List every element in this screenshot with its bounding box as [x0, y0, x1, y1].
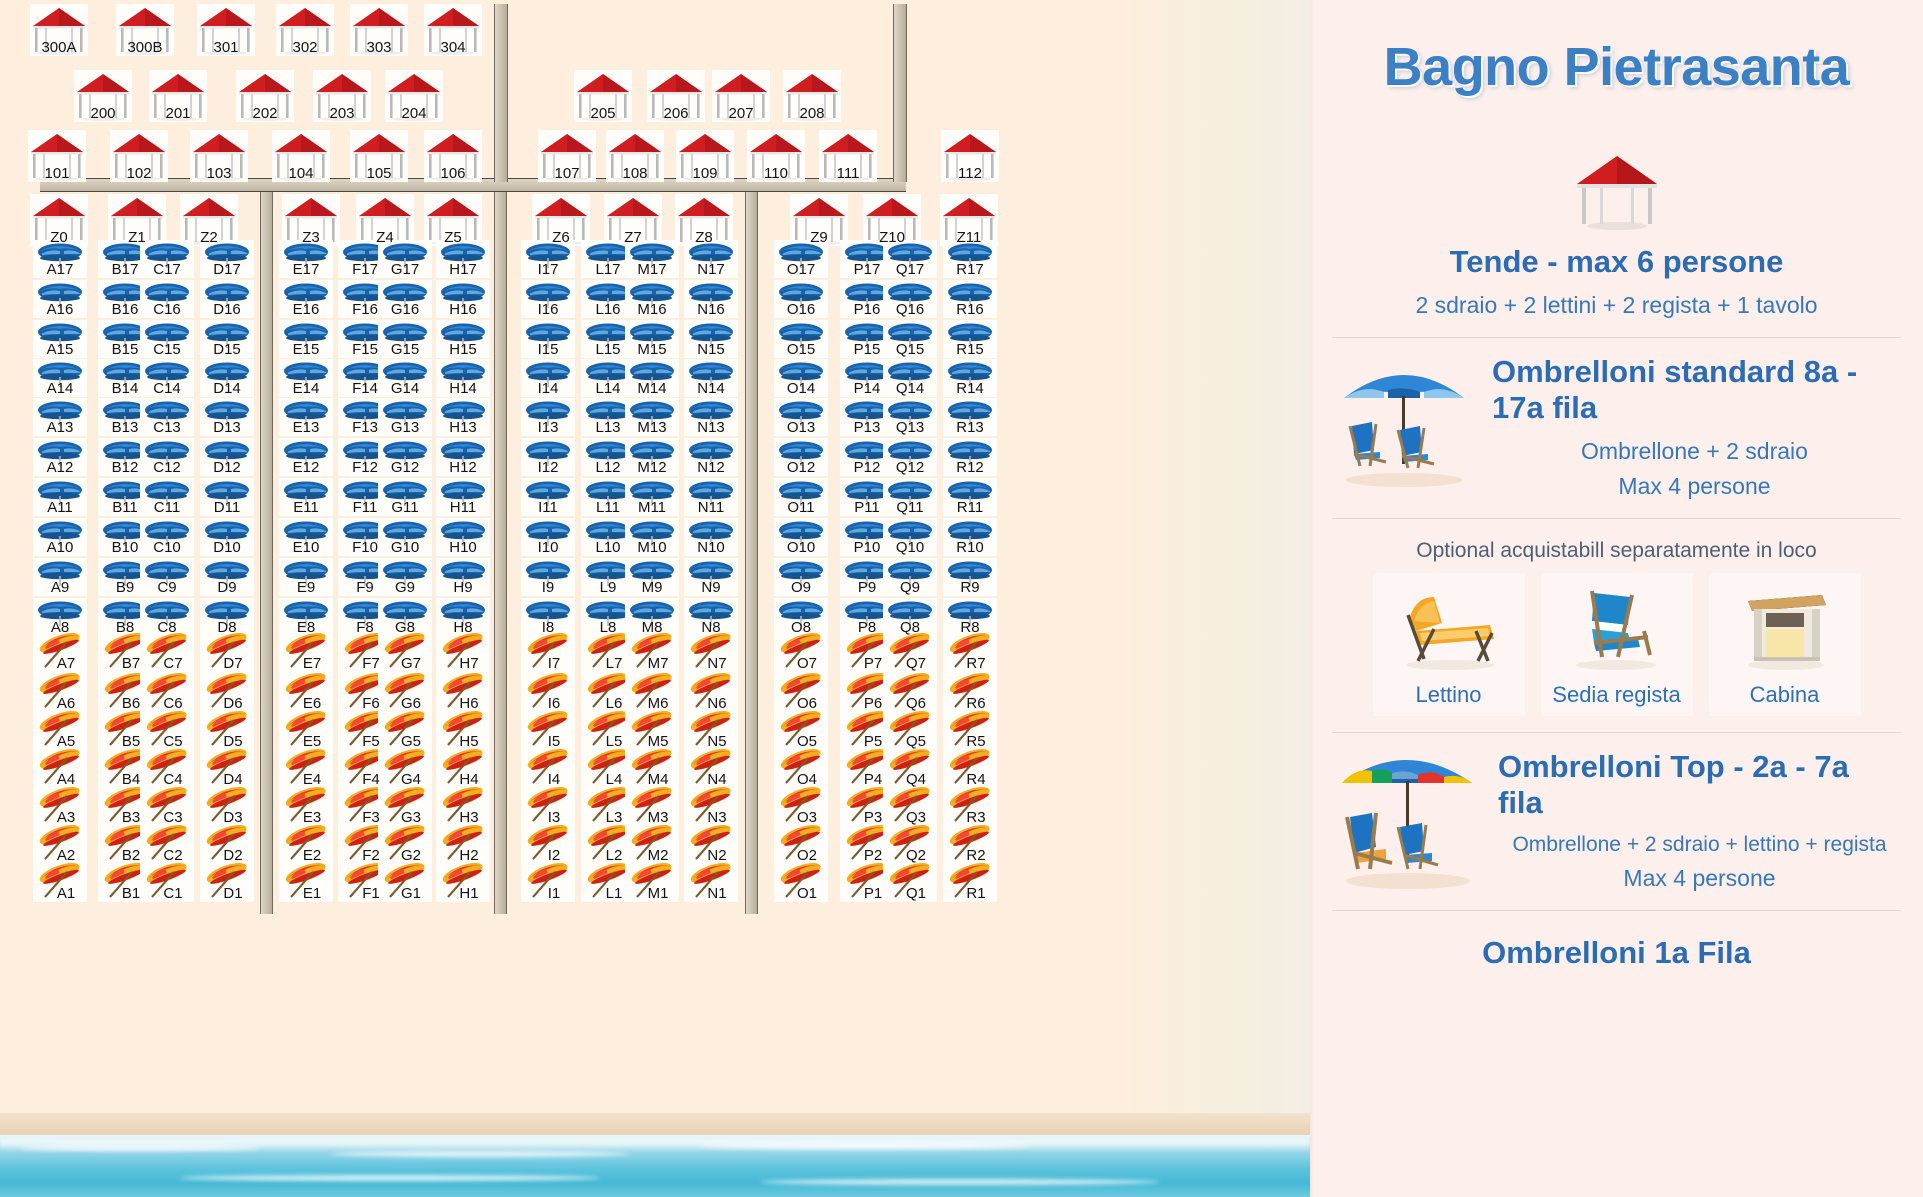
legend-standard-detail2: Max 4 persone: [1488, 473, 1901, 500]
umbrella-spot-H12[interactable]: H12: [436, 438, 490, 476]
umbrella-spot-D5[interactable]: D5: [200, 710, 254, 750]
umbrella-spot-O11[interactable]: O11: [774, 478, 828, 516]
tent-spot-label: 208: [799, 106, 824, 121]
umbrella-spot-label: P17: [854, 262, 881, 277]
umbrella-spot-A6[interactable]: A6: [33, 672, 87, 712]
umbrella-spot-G15[interactable]: G15: [378, 320, 432, 358]
umbrella-spot-M11[interactable]: M11: [625, 478, 679, 516]
umbrella-spot-A1[interactable]: A1: [33, 862, 87, 902]
umbrella-spot-label: L8: [600, 620, 617, 635]
umbrella-spot-N7[interactable]: N7: [684, 632, 738, 672]
umbrella-spot-C9[interactable]: C9: [140, 558, 194, 596]
umbrella-spot-label: O15: [787, 342, 815, 357]
umbrella-spot-Q9[interactable]: Q9: [883, 558, 937, 596]
umbrella-spot-O10[interactable]: O10: [774, 518, 828, 556]
umbrella-spot-C1[interactable]: C1: [140, 862, 194, 902]
umbrella-spot-R5[interactable]: R5: [943, 710, 997, 750]
umbrella-spot-O9[interactable]: O9: [774, 558, 828, 596]
umbrella-spot-N3[interactable]: N3: [684, 786, 738, 826]
umbrella-spot-G4[interactable]: G4: [378, 748, 432, 788]
umbrella-spot-M10[interactable]: M10: [625, 518, 679, 556]
umbrella-spot-N1[interactable]: N1: [684, 862, 738, 902]
umbrella-spot-Q15[interactable]: Q15: [883, 320, 937, 358]
umbrella-spot-Q6[interactable]: Q6: [883, 672, 937, 712]
umbrella-spot-C7[interactable]: C7: [140, 632, 194, 672]
umbrella-spot-C15[interactable]: C15: [140, 320, 194, 358]
umbrella-spot-R2[interactable]: R2: [943, 824, 997, 864]
umbrella-spot-D3[interactable]: D3: [200, 786, 254, 826]
umbrella-spot-label: F4: [350, 772, 380, 787]
umbrella-spot-label: R8: [960, 620, 979, 635]
umbrella-spot-label: C4: [151, 772, 182, 787]
tent-spot-103[interactable]: 103: [190, 130, 248, 182]
umbrella-spot-M3[interactable]: M3: [625, 786, 679, 826]
tent-spot-107[interactable]: 107: [538, 130, 596, 182]
umbrella-spot-R9[interactable]: R9: [943, 558, 997, 596]
umbrella-spot-H6[interactable]: H6: [436, 672, 490, 712]
umbrella-spot-M15[interactable]: M15: [625, 320, 679, 358]
umbrella-spot-label: B12: [112, 460, 139, 475]
umbrella-spot-O4[interactable]: O4: [774, 748, 828, 788]
umbrella-spot-Q1[interactable]: Q1: [883, 862, 937, 902]
umbrella-spot-N5[interactable]: N5: [684, 710, 738, 750]
umbrella-spot-label: Q8: [900, 620, 920, 635]
umbrella-spot-label: D2: [211, 848, 242, 863]
tent-spot-300A[interactable]: 300A: [30, 4, 88, 56]
umbrella-spot-G11[interactable]: G11: [378, 478, 432, 516]
umbrella-spot-O6[interactable]: O6: [774, 672, 828, 712]
umbrella-spot-Q16[interactable]: Q16: [883, 280, 937, 318]
umbrella-spot-label: I8: [542, 620, 555, 635]
umbrella-spot-label: G15: [391, 342, 419, 357]
umbrella-spot-label: I2: [536, 848, 561, 863]
umbrella-spot-label: O2: [785, 848, 817, 863]
umbrella-spot-I10[interactable]: I10: [521, 518, 575, 556]
umbrella-spot-C14[interactable]: C14: [140, 359, 194, 397]
umbrella-spot-label: P4: [852, 772, 882, 787]
umbrella-spot-E13[interactable]: E13: [279, 398, 333, 436]
umbrella-spot-G14[interactable]: G14: [378, 359, 432, 397]
umbrella-spot-H1[interactable]: H1: [436, 862, 490, 902]
umbrella-spot-O12[interactable]: O12: [774, 438, 828, 476]
umbrella-spot-N16[interactable]: N16: [684, 280, 738, 318]
umbrella-spot-R6[interactable]: R6: [943, 672, 997, 712]
umbrella-spot-E12[interactable]: E12: [279, 438, 333, 476]
umbrella-spot-R3[interactable]: R3: [943, 786, 997, 826]
umbrella-spot-D16[interactable]: D16: [200, 280, 254, 318]
umbrella-spot-C11[interactable]: C11: [140, 478, 194, 516]
umbrella-spot-label: P9: [858, 580, 876, 595]
umbrella-spot-label: R5: [954, 734, 985, 749]
umbrella-spot-I14[interactable]: I14: [521, 359, 575, 397]
umbrella-spot-I12[interactable]: I12: [521, 438, 575, 476]
umbrella-spot-D15[interactable]: D15: [200, 320, 254, 358]
tent-spot-303[interactable]: 303: [350, 4, 408, 56]
tent-spot-label: 107: [554, 166, 579, 181]
umbrella-spot-M4[interactable]: M4: [625, 748, 679, 788]
umbrella-spot-Q13[interactable]: Q13: [883, 398, 937, 436]
umbrella-spot-label: C10: [153, 540, 181, 555]
optional-card-lettino[interactable]: Lettino: [1373, 573, 1525, 716]
umbrella-spot-E7[interactable]: E7: [279, 632, 333, 672]
divider-HI: [494, 192, 507, 914]
umbrella-spot-E10[interactable]: E10: [279, 518, 333, 556]
umbrella-spot-label: D14: [213, 381, 241, 396]
optional-card-sedia-regista[interactable]: Sedia regista: [1541, 573, 1693, 716]
umbrella-spot-I1[interactable]: I1: [521, 862, 575, 902]
umbrella-spot-R10[interactable]: R10: [943, 518, 997, 556]
umbrella-spot-G3[interactable]: G3: [378, 786, 432, 826]
umbrella-spot-label: I15: [538, 342, 559, 357]
umbrella-spot-label: R9: [960, 580, 979, 595]
umbrella-spot-R1[interactable]: R1: [943, 862, 997, 902]
umbrella-spot-I5[interactable]: I5: [521, 710, 575, 750]
tent-spot-108[interactable]: 108: [606, 130, 664, 182]
legend-standard-detail1: Ombrellone + 2 sdraio: [1488, 438, 1901, 465]
umbrella-spot-G9[interactable]: G9: [378, 558, 432, 596]
umbrella-spot-label: E9: [297, 580, 315, 595]
umbrella-spot-C5[interactable]: C5: [140, 710, 194, 750]
tent-spot-101[interactable]: 101: [28, 130, 86, 182]
tent-spot-label: 206: [663, 106, 688, 121]
umbrella-spot-label: Q17: [896, 262, 924, 277]
umbrella-spot-N4[interactable]: N4: [684, 748, 738, 788]
umbrella-spot-R14[interactable]: R14: [943, 359, 997, 397]
umbrella-spot-M7[interactable]: M7: [625, 632, 679, 672]
umbrella-spot-O13[interactable]: O13: [774, 398, 828, 436]
umbrella-spot-label: G1: [389, 886, 421, 901]
umbrella-spot-A11[interactable]: A11: [33, 478, 87, 516]
umbrella-spot-D4[interactable]: D4: [200, 748, 254, 788]
umbrella-spot-D7[interactable]: D7: [200, 632, 254, 672]
umbrella-spot-label: F11: [353, 500, 378, 515]
umbrella-spot-E1[interactable]: E1: [279, 862, 333, 902]
umbrella-spot-G1[interactable]: G1: [378, 862, 432, 902]
umbrella-spot-I7[interactable]: I7: [521, 632, 575, 672]
umbrella-spot-label: B7: [110, 656, 140, 671]
umbrella-spot-H4[interactable]: H4: [436, 748, 490, 788]
foam-line: [180, 1175, 600, 1181]
tent-spot-203[interactable]: 203: [313, 70, 371, 122]
umbrella-spot-label: C6: [151, 696, 182, 711]
umbrella-spot-E5[interactable]: E5: [279, 710, 333, 750]
tent-spot-200[interactable]: 200: [74, 70, 132, 122]
umbrella-spot-A2[interactable]: A2: [33, 824, 87, 864]
tent-spot-106[interactable]: 106: [424, 130, 482, 182]
tent-spot-304[interactable]: 304: [424, 4, 482, 56]
umbrella-spot-label: E11: [293, 500, 319, 515]
umbrella-spot-label: O6: [785, 696, 817, 711]
umbrella-spot-A14[interactable]: A14: [33, 359, 87, 397]
optional-card-cabina[interactable]: Cabina: [1709, 573, 1861, 716]
legend-top-title: Ombrelloni Top - 2a - 7a fila: [1498, 749, 1901, 821]
umbrella-spot-Q3[interactable]: Q3: [883, 786, 937, 826]
tent-spot-111[interactable]: 111: [819, 130, 877, 182]
umbrella-spot-G13[interactable]: G13: [378, 398, 432, 436]
umbrella-spot-I15[interactable]: I15: [521, 320, 575, 358]
tent-spot-105[interactable]: 105: [350, 130, 408, 182]
umbrella-spot-label: C5: [151, 734, 182, 749]
umbrella-spot-label: H16: [449, 302, 477, 317]
umbrella-spot-Q12[interactable]: Q12: [883, 438, 937, 476]
umbrella-spot-A9[interactable]: A9: [33, 558, 87, 596]
umbrella-spot-Q11[interactable]: Q11: [883, 478, 937, 516]
umbrella-spot-I2[interactable]: I2: [521, 824, 575, 864]
umbrella-spot-label: F16: [352, 302, 378, 317]
umbrella-spot-D2[interactable]: D2: [200, 824, 254, 864]
umbrella-spot-O5[interactable]: O5: [774, 710, 828, 750]
umbrella-spot-label: G4: [389, 772, 421, 787]
umbrella-spot-H10[interactable]: H10: [436, 518, 490, 556]
tent-spot-label: 104: [288, 166, 313, 181]
umbrella-spot-label: P8: [858, 620, 876, 635]
umbrella-spot-I13[interactable]: I13: [521, 398, 575, 436]
tent-spot-112[interactable]: 112: [941, 130, 999, 182]
umbrella-spot-label: A5: [45, 734, 75, 749]
umbrella-spot-D10[interactable]: D10: [200, 518, 254, 556]
umbrella-spot-Q2[interactable]: Q2: [883, 824, 937, 864]
umbrella-spot-N14[interactable]: N14: [684, 359, 738, 397]
umbrella-spot-label: M3: [636, 810, 669, 825]
tent-spot-208[interactable]: 208: [783, 70, 841, 122]
umbrella-spot-H5[interactable]: H5: [436, 710, 490, 750]
umbrella-spot-H16[interactable]: H16: [436, 280, 490, 318]
umbrella-spot-R13[interactable]: R13: [943, 398, 997, 436]
tent-spot-300B[interactable]: 300B: [116, 4, 174, 56]
umbrella-spot-label: D5: [211, 734, 242, 749]
umbrella-spot-I16[interactable]: I16: [521, 280, 575, 318]
tent-spot-202[interactable]: 202: [236, 70, 294, 122]
umbrella-spot-M5[interactable]: M5: [625, 710, 679, 750]
umbrella-spot-D6[interactable]: D6: [200, 672, 254, 712]
umbrella-spot-E15[interactable]: E15: [279, 320, 333, 358]
umbrella-spot-O15[interactable]: O15: [774, 320, 828, 358]
tent-spot-109[interactable]: 109: [676, 130, 734, 182]
umbrella-spot-E14[interactable]: E14: [279, 359, 333, 397]
umbrella-spot-label: B17: [112, 262, 139, 277]
umbrella-spot-label: I10: [538, 540, 559, 555]
umbrella-spot-D13[interactable]: D13: [200, 398, 254, 436]
umbrella-spot-label: F9: [356, 580, 374, 595]
umbrella-spot-Q7[interactable]: Q7: [883, 632, 937, 672]
umbrella-spot-G7[interactable]: G7: [378, 632, 432, 672]
umbrella-spot-E3[interactable]: E3: [279, 786, 333, 826]
umbrella-spot-label: D7: [211, 656, 242, 671]
tent-spot-label: Z2: [200, 230, 218, 245]
tent-spot-102[interactable]: 102: [110, 130, 168, 182]
umbrella-spot-D9[interactable]: D9: [200, 558, 254, 596]
umbrella-spot-E2[interactable]: E2: [279, 824, 333, 864]
tent-spot-206[interactable]: 206: [647, 70, 705, 122]
umbrella-spot-label: R2: [954, 848, 985, 863]
umbrella-spot-R12[interactable]: R12: [943, 438, 997, 476]
umbrella-spot-N15[interactable]: N15: [684, 320, 738, 358]
umbrella-spot-label: E7: [291, 656, 321, 671]
umbrella-spot-D11[interactable]: D11: [200, 478, 254, 516]
umbrella-spot-label: H3: [447, 810, 478, 825]
umbrella-spot-O1[interactable]: O1: [774, 862, 828, 902]
umbrella-spot-E16[interactable]: E16: [279, 280, 333, 318]
umbrella-spot-label: P10: [854, 540, 881, 555]
umbrella-spot-I6[interactable]: I6: [521, 672, 575, 712]
umbrella-spot-H11[interactable]: H11: [436, 478, 490, 516]
umbrella-spot-A3[interactable]: A3: [33, 786, 87, 826]
umbrella-spot-O14[interactable]: O14: [774, 359, 828, 397]
umbrella-spot-M1[interactable]: M1: [625, 862, 679, 902]
umbrella-spot-label: N6: [695, 696, 726, 711]
umbrella-spot-M13[interactable]: M13: [625, 398, 679, 436]
umbrella-spot-label: O4: [785, 772, 817, 787]
umbrella-spot-label: A8: [51, 620, 69, 635]
umbrella-spot-H14[interactable]: H14: [436, 359, 490, 397]
umbrella-spot-M2[interactable]: M2: [625, 824, 679, 864]
umbrella-spot-H15[interactable]: H15: [436, 320, 490, 358]
umbrella-spot-C16[interactable]: C16: [140, 280, 194, 318]
umbrella-spot-H13[interactable]: H13: [436, 398, 490, 436]
umbrella-spot-M9[interactable]: M9: [625, 558, 679, 596]
umbrella-spot-label: E14: [293, 381, 320, 396]
umbrella-spot-C2[interactable]: C2: [140, 824, 194, 864]
legend-panel: Bagno Pietrasanta Tende - max 6 persone …: [1310, 0, 1923, 1197]
umbrella-spot-G5[interactable]: G5: [378, 710, 432, 750]
umbrella-spot-R7[interactable]: R7: [943, 632, 997, 672]
umbrella-spot-label: O5: [785, 734, 817, 749]
umbrella-spot-E4[interactable]: E4: [279, 748, 333, 788]
umbrella-spot-O16[interactable]: O16: [774, 280, 828, 318]
umbrella-spot-H2[interactable]: H2: [436, 824, 490, 864]
umbrella-spot-O3[interactable]: O3: [774, 786, 828, 826]
tent-spot-301[interactable]: 301: [197, 4, 255, 56]
umbrella-spot-C12[interactable]: C12: [140, 438, 194, 476]
tent-spot-label: 300A: [41, 40, 76, 55]
umbrella-spot-A4[interactable]: A4: [33, 748, 87, 788]
umbrella-spot-label: A15: [47, 342, 74, 357]
umbrella-spot-C13[interactable]: C13: [140, 398, 194, 436]
tent-spot-110[interactable]: 110: [747, 130, 805, 182]
umbrella-spot-C4[interactable]: C4: [140, 748, 194, 788]
umbrella-spot-label: P13: [854, 420, 881, 435]
umbrella-spot-O2[interactable]: O2: [774, 824, 828, 864]
umbrella-spot-G12[interactable]: G12: [378, 438, 432, 476]
umbrella-spot-R11[interactable]: R11: [943, 478, 997, 516]
umbrella-spot-label: I7: [536, 656, 561, 671]
umbrella-spot-O7[interactable]: O7: [774, 632, 828, 672]
umbrella-spot-A13[interactable]: A13: [33, 398, 87, 436]
umbrella-spot-Q5[interactable]: Q5: [883, 710, 937, 750]
umbrella-spot-M6[interactable]: M6: [625, 672, 679, 712]
umbrella-spot-N10[interactable]: N10: [684, 518, 738, 556]
umbrella-spot-A5[interactable]: A5: [33, 710, 87, 750]
umbrella-spot-C3[interactable]: C3: [140, 786, 194, 826]
umbrella-spot-G6[interactable]: G6: [378, 672, 432, 712]
umbrella-spot-M12[interactable]: M12: [625, 438, 679, 476]
optional-card-label: Sedia regista: [1552, 682, 1680, 708]
umbrella-spot-label: I5: [536, 734, 561, 749]
tent-spot-104[interactable]: 104: [272, 130, 330, 182]
umbrella-spot-label: A6: [45, 696, 75, 711]
umbrella-spot-label: D11: [214, 500, 240, 515]
umbrella-spot-I9[interactable]: I9: [521, 558, 575, 596]
umbrella-spot-label: I17: [538, 262, 559, 277]
umbrella-spot-C10[interactable]: C10: [140, 518, 194, 556]
umbrella-spot-A15[interactable]: A15: [33, 320, 87, 358]
legend-first-row-title: Ombrelloni 1a Fila: [1332, 935, 1901, 971]
umbrella-spot-E6[interactable]: E6: [279, 672, 333, 712]
umbrella-spot-G16[interactable]: G16: [378, 280, 432, 318]
umbrella-spot-H9[interactable]: H9: [436, 558, 490, 596]
umbrella-spot-I3[interactable]: I3: [521, 786, 575, 826]
umbrella-spot-label: M9: [642, 580, 663, 595]
umbrella-spot-label: M8: [642, 620, 663, 635]
umbrella-spot-label: L15: [595, 342, 620, 357]
umbrella-spot-label: F17: [352, 262, 378, 277]
umbrella-spot-A16[interactable]: A16: [33, 280, 87, 318]
umbrella-spot-C17[interactable]: C17: [140, 240, 194, 278]
umbrella-spot-D12[interactable]: D12: [200, 438, 254, 476]
umbrella-spot-M16[interactable]: M16: [625, 280, 679, 318]
tent-spot-204[interactable]: 204: [385, 70, 443, 122]
umbrella-spot-A7[interactable]: A7: [33, 632, 87, 672]
umbrella-spot-Q10[interactable]: Q10: [883, 518, 937, 556]
umbrella-spot-N13[interactable]: N13: [684, 398, 738, 436]
optional-card-label: Cabina: [1750, 682, 1820, 708]
umbrella-spot-D14[interactable]: D14: [200, 359, 254, 397]
umbrella-spot-I4[interactable]: I4: [521, 748, 575, 788]
umbrella-spot-label: H6: [447, 696, 478, 711]
umbrella-spot-I11[interactable]: I11: [521, 478, 575, 516]
tent-spot-205[interactable]: 205: [574, 70, 632, 122]
tent-spot-207[interactable]: 207: [712, 70, 770, 122]
umbrella-spot-C6[interactable]: C6: [140, 672, 194, 712]
umbrella-spot-label: H12: [449, 460, 477, 475]
umbrella-spot-A10[interactable]: A10: [33, 518, 87, 556]
umbrella-spot-E11[interactable]: E11: [279, 478, 333, 516]
tent-spot-201[interactable]: 201: [149, 70, 207, 122]
legend-top-detail1: Ombrellone + 2 sdraio + lettino + regist…: [1498, 833, 1901, 857]
umbrella-spot-R15[interactable]: R15: [943, 320, 997, 358]
umbrella-spot-R4[interactable]: R4: [943, 748, 997, 788]
tent-spot-label: Z1: [128, 230, 146, 245]
umbrella-spot-N9[interactable]: N9: [684, 558, 738, 596]
umbrella-spot-label: E17: [293, 262, 320, 277]
umbrella-spot-Q4[interactable]: Q4: [883, 748, 937, 788]
umbrella-spot-D1[interactable]: D1: [200, 862, 254, 902]
umbrella-spot-N2[interactable]: N2: [684, 824, 738, 864]
umbrella-spot-N6[interactable]: N6: [684, 672, 738, 712]
umbrella-spot-label: L16: [595, 302, 620, 317]
umbrella-spot-label: C1: [151, 886, 182, 901]
umbrella-spot-label: F14: [352, 381, 378, 396]
umbrella-spot-E9[interactable]: E9: [279, 558, 333, 596]
umbrella-spot-M14[interactable]: M14: [625, 359, 679, 397]
umbrella-spot-N12[interactable]: N12: [684, 438, 738, 476]
umbrella-spot-N11[interactable]: N11: [684, 478, 738, 516]
umbrella-spot-label: G16: [391, 302, 419, 317]
umbrella-spot-H3[interactable]: H3: [436, 786, 490, 826]
legend-section-top: Ombrelloni Top - 2a - 7a fila Ombrellone…: [1332, 732, 1901, 910]
umbrella-spot-label: O11: [787, 500, 814, 515]
umbrella-spot-Q14[interactable]: Q14: [883, 359, 937, 397]
umbrella-spot-G10[interactable]: G10: [378, 518, 432, 556]
umbrella-spot-H7[interactable]: H7: [436, 632, 490, 672]
umbrella-spot-label: N4: [695, 772, 726, 787]
tent-spot-302[interactable]: 302: [276, 4, 334, 56]
umbrella-spot-label: P2: [852, 848, 882, 863]
umbrella-spot-R16[interactable]: R16: [943, 280, 997, 318]
umbrella-spot-G2[interactable]: G2: [378, 824, 432, 864]
umbrella-spot-A12[interactable]: A12: [33, 438, 87, 476]
umbrella-spot-label: B5: [110, 734, 140, 749]
